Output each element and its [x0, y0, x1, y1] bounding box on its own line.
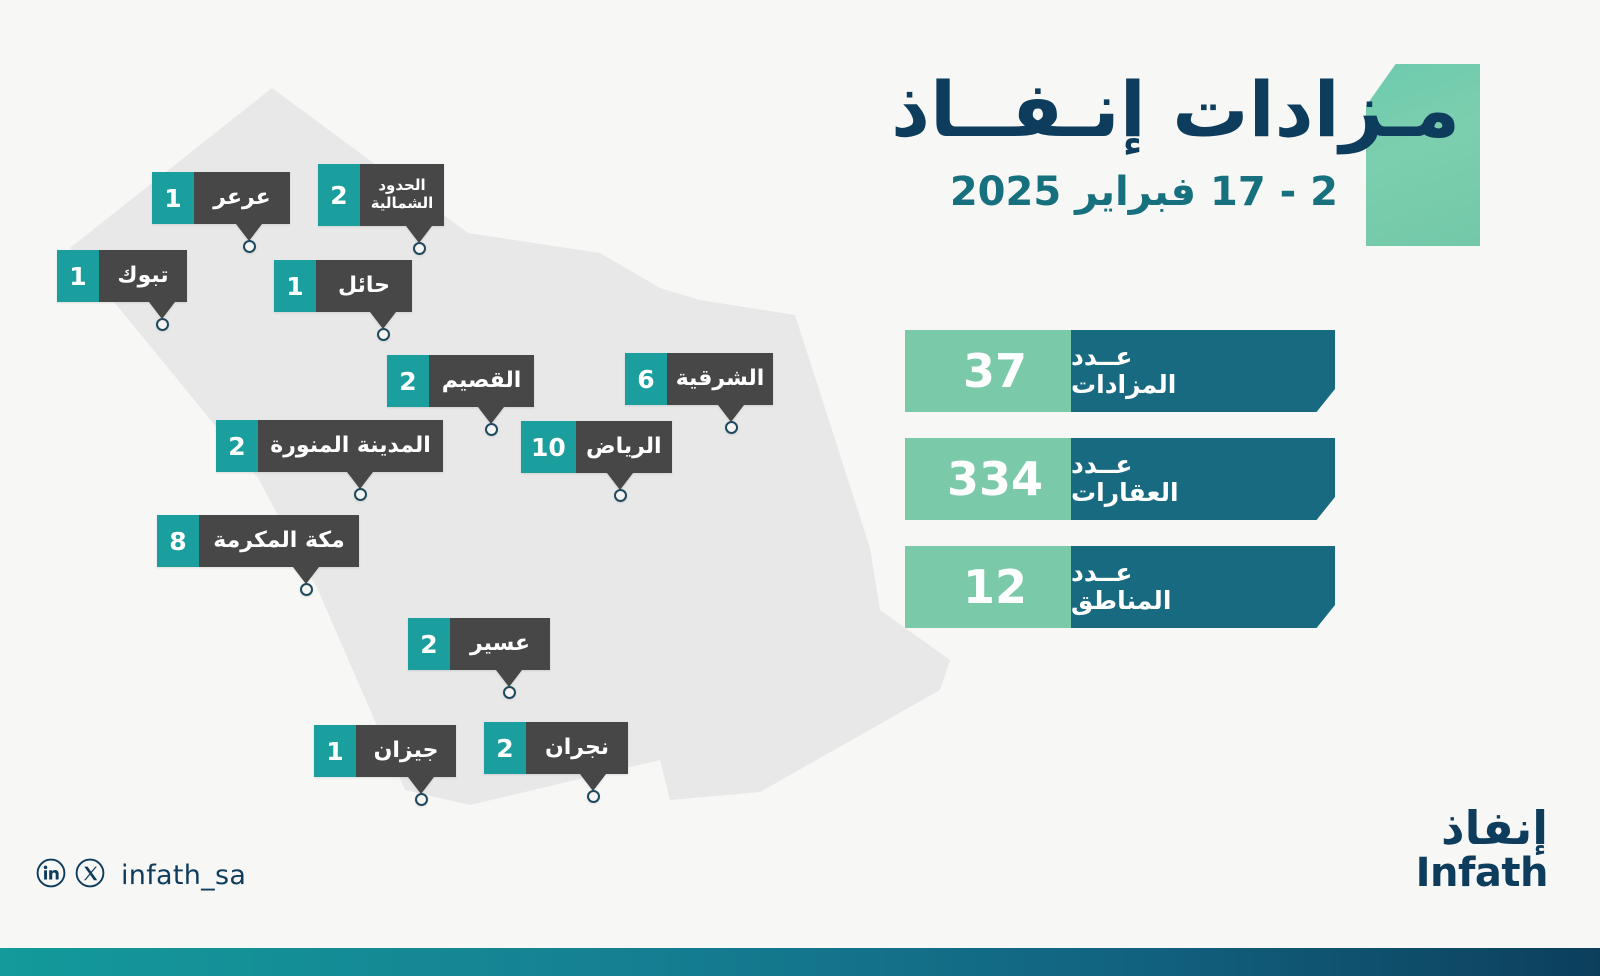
stat-row: عــددالمناطق12 — [905, 546, 1335, 628]
region-label[interactable]: تبوك1 — [57, 250, 187, 302]
region-map-pin-icon — [300, 583, 313, 596]
region-label[interactable]: حائل1 — [274, 260, 412, 312]
date-range: 2 - 17 فبراير 2025 — [718, 170, 1338, 215]
page-title: مـزادات إنـفــاذ — [720, 72, 1460, 148]
region-auction-count: 1 — [274, 260, 316, 312]
stat-row: عــددالعقارات334 — [905, 438, 1335, 520]
region-name: القصيم — [429, 355, 534, 407]
logo-arabic: إنفاذ — [1416, 805, 1548, 852]
region-label[interactable]: الشرقية6 — [625, 353, 773, 405]
region-name: تبوك — [99, 250, 187, 302]
stat-value: 12 — [905, 546, 1085, 628]
region-name: الشرقية — [667, 353, 773, 405]
region-name: مكة المكرمة — [199, 515, 359, 567]
region-auction-count: 8 — [157, 515, 199, 567]
region-pointer-icon — [406, 226, 432, 243]
region-auction-count: 6 — [625, 353, 667, 405]
region-name: الرياض — [576, 421, 672, 473]
region-name: نجران — [526, 722, 628, 774]
linkedin-icon[interactable] — [36, 858, 66, 892]
region-auction-count: 1 — [152, 172, 194, 224]
region-pointer-icon — [347, 472, 373, 489]
region-map-pin-icon — [354, 488, 367, 501]
region-map-pin-icon — [614, 489, 627, 502]
stat-label-line1: عــدد — [1071, 343, 1132, 372]
region-pointer-icon — [580, 774, 606, 791]
region-label[interactable]: القصيم2 — [387, 355, 534, 407]
stat-label-line2: العقارات — [1071, 479, 1179, 508]
stat-label: عــددالعقارات — [1071, 438, 1335, 520]
region-map-pin-icon — [725, 421, 738, 434]
stats-panel: عــددالمزادات37عــددالعقارات334عــددالمن… — [905, 330, 1335, 654]
region-map-pin-icon — [485, 423, 498, 436]
stat-label: عــددالمزادات — [1071, 330, 1335, 412]
region-map-pin-icon — [413, 242, 426, 255]
region-pointer-icon — [718, 405, 744, 422]
region-label[interactable]: عرعر1 — [152, 172, 290, 224]
stat-value: 334 — [905, 438, 1085, 520]
x-twitter-icon[interactable] — [75, 858, 105, 892]
region-map-pin-icon — [377, 328, 390, 341]
region-name: جيزان — [356, 725, 456, 777]
region-auction-count: 2 — [408, 618, 450, 670]
stat-value-text: 334 — [947, 452, 1043, 506]
stat-label-line1: عــدد — [1071, 451, 1132, 480]
social-handles[interactable]: infath_sa — [36, 858, 246, 892]
region-pointer-icon — [149, 302, 175, 319]
region-auction-count: 2 — [216, 420, 258, 472]
region-pointer-icon — [370, 312, 396, 329]
infographic-canvas: عرعر1الحدود الشمالية2تبوك1حائل1القصيم2ال… — [0, 0, 1600, 976]
social-handle-text: infath_sa — [121, 860, 246, 891]
region-name: المدينة المنورة — [258, 420, 443, 472]
region-pointer-icon — [236, 224, 262, 241]
region-label[interactable]: المدينة المنورة2 — [216, 420, 443, 472]
stat-label-line2: المناطق — [1071, 587, 1171, 616]
region-label[interactable]: مكة المكرمة8 — [157, 515, 359, 567]
region-label[interactable]: الرياض10 — [521, 421, 672, 473]
region-auction-count: 2 — [484, 722, 526, 774]
region-label[interactable]: نجران2 — [484, 722, 628, 774]
region-pointer-icon — [496, 670, 522, 687]
region-map-pin-icon — [243, 240, 256, 253]
stat-value: 37 — [905, 330, 1085, 412]
region-pointer-icon — [293, 567, 319, 584]
infath-logo: إنفاذ Infath — [1416, 805, 1548, 894]
region-pointer-icon — [408, 777, 434, 794]
region-label[interactable]: عسير2 — [408, 618, 550, 670]
footer-gradient-bar — [0, 948, 1600, 976]
stat-value-text: 12 — [963, 560, 1027, 614]
stat-row: عــددالمزادات37 — [905, 330, 1335, 412]
region-map-pin-icon — [503, 686, 516, 699]
region-map-pin-icon — [587, 790, 600, 803]
region-name: عسير — [450, 618, 550, 670]
region-label[interactable]: الحدود الشمالية2 — [318, 164, 444, 226]
region-map-pin-icon — [415, 793, 428, 806]
region-name: الحدود الشمالية — [360, 164, 444, 226]
region-name: حائل — [316, 260, 412, 312]
logo-english: Infath — [1416, 852, 1548, 894]
region-label[interactable]: جيزان1 — [314, 725, 456, 777]
stat-label: عــددالمناطق — [1071, 546, 1335, 628]
stat-value-text: 37 — [963, 344, 1027, 398]
region-pointer-icon — [478, 407, 504, 424]
stat-label-line2: المزادات — [1071, 371, 1176, 400]
region-auction-count: 1 — [314, 725, 356, 777]
region-auction-count: 10 — [521, 421, 576, 473]
region-name: عرعر — [194, 172, 290, 224]
region-auction-count: 2 — [387, 355, 429, 407]
stat-label-line1: عــدد — [1071, 559, 1132, 588]
region-auction-count: 1 — [57, 250, 99, 302]
region-auction-count: 2 — [318, 164, 360, 226]
region-map-pin-icon — [156, 318, 169, 331]
region-pointer-icon — [607, 473, 633, 490]
